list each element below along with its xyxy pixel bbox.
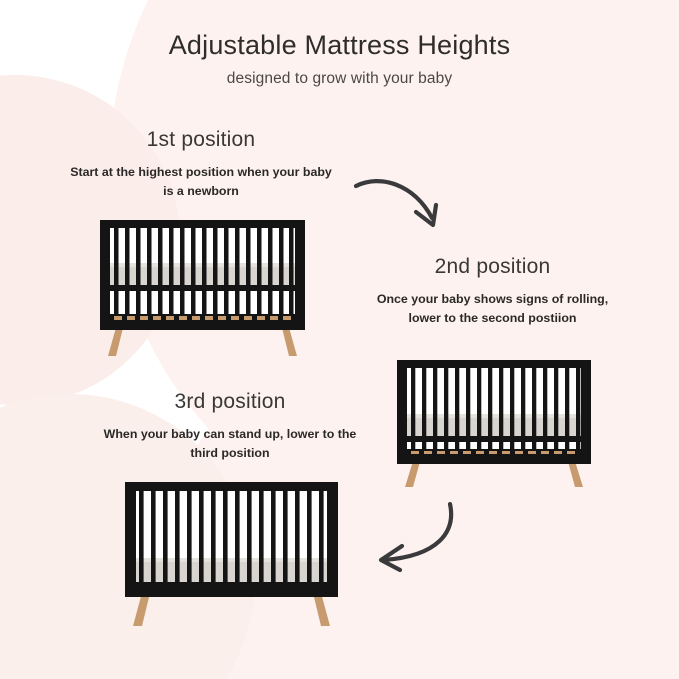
page-subtitle: designed to grow with your baby	[0, 70, 679, 88]
position-block-2nd: 2nd position Once your baby shows signs …	[360, 255, 625, 328]
position-block-1st: 1st position Start at the highest positi…	[68, 128, 334, 201]
position-title-2nd: 2nd position	[360, 255, 625, 279]
position-desc-2nd: Once your baby shows signs of rolling, l…	[360, 290, 625, 328]
crib-illustration-1st-position	[92, 216, 313, 356]
page-title: Adjustable Mattress Heights	[0, 30, 679, 61]
crib-illustration-3rd-position	[116, 478, 347, 626]
header: Adjustable Mattress Heights designed to …	[0, 30, 679, 88]
crib-illustration-2nd-position	[390, 357, 598, 487]
position-title-1st: 1st position	[68, 128, 334, 152]
position-desc-3rd: When your baby can stand up, lower to th…	[96, 425, 364, 463]
position-block-3rd: 3rd position When your baby can stand up…	[96, 390, 364, 463]
position-title-3rd: 3rd position	[96, 390, 364, 414]
position-desc-1st: Start at the highest position when your …	[68, 163, 334, 201]
curved-arrow-down-right	[352, 172, 456, 238]
curved-arrow-down-left	[364, 498, 468, 574]
infographic-content: Adjustable Mattress Heights designed to …	[0, 0, 679, 679]
infographic-canvas: Adjustable Mattress Heights designed to …	[0, 0, 679, 679]
